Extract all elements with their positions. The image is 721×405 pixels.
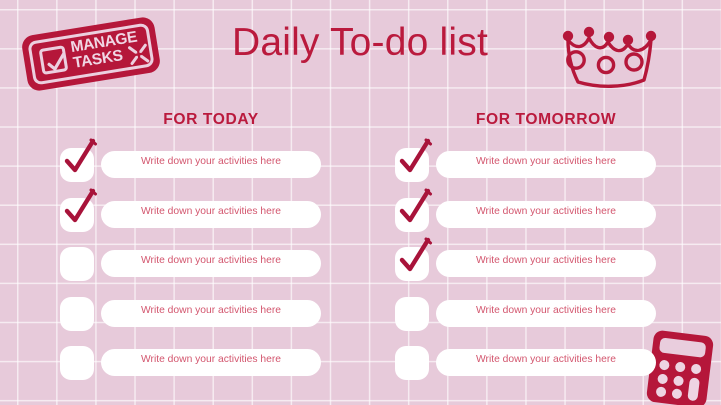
task-row: Write down your activities here — [60, 297, 340, 347]
task-checkbox[interactable] — [60, 247, 94, 281]
task-checkbox[interactable] — [395, 198, 429, 232]
tomorrow-column: FOR TOMORROW Write down your activities … — [395, 110, 675, 396]
task-placeholder: Write down your activities here — [436, 303, 656, 319]
slide-canvas: MANAGE TASKS Daily To-do list — [0, 0, 721, 405]
task-placeholder: Write down your activities here — [101, 303, 321, 319]
today-task-list: Write down your activities here Write do… — [60, 148, 340, 396]
task-placeholder: Write down your activities here — [436, 154, 656, 170]
checkbox-box — [395, 297, 429, 331]
checkbox-box — [395, 148, 429, 182]
manage-tasks-stamp: MANAGE TASKS — [20, 16, 161, 93]
task-row: Write down your activities here — [395, 198, 675, 248]
task-row: Write down your activities here — [395, 346, 675, 396]
checkbox-box — [395, 198, 429, 232]
checkbox-checked-icon — [39, 45, 69, 75]
task-placeholder: Write down your activities here — [101, 204, 321, 220]
crown-icon — [556, 14, 666, 92]
task-checkbox[interactable] — [60, 346, 94, 380]
task-row: Write down your activities here — [60, 148, 340, 198]
checkbox-box — [395, 247, 429, 281]
checkbox-box — [60, 297, 94, 331]
task-checkbox[interactable] — [60, 198, 94, 232]
task-placeholder: Write down your activities here — [101, 352, 321, 368]
task-checkbox[interactable] — [60, 297, 94, 331]
task-placeholder: Write down your activities here — [436, 204, 656, 220]
task-row: Write down your activities here — [60, 346, 340, 396]
task-placeholder: Write down your activities here — [436, 253, 656, 269]
task-checkbox[interactable] — [395, 247, 429, 281]
page-title: Daily To-do list — [170, 21, 550, 65]
checkbox-box — [60, 198, 94, 232]
task-row: Write down your activities here — [60, 247, 340, 297]
task-checkbox[interactable] — [60, 148, 94, 182]
task-placeholder: Write down your activities here — [436, 352, 656, 368]
task-placeholder: Write down your activities here — [101, 154, 321, 170]
checkbox-box — [60, 148, 94, 182]
star-burst-icon — [126, 42, 151, 67]
task-checkbox[interactable] — [395, 297, 429, 331]
task-checkbox[interactable] — [395, 148, 429, 182]
task-row: Write down your activities here — [395, 247, 675, 297]
task-row: Write down your activities here — [395, 148, 675, 198]
tomorrow-column-heading: FOR TOMORROW — [417, 110, 675, 138]
today-column-heading: FOR TODAY — [82, 110, 340, 138]
checkbox-box — [60, 247, 94, 281]
checkbox-box — [60, 346, 94, 380]
task-row: Write down your activities here — [395, 297, 675, 347]
checkbox-box — [395, 346, 429, 380]
task-row: Write down your activities here — [60, 198, 340, 248]
task-checkbox[interactable] — [395, 346, 429, 380]
task-placeholder: Write down your activities here — [101, 253, 321, 269]
tomorrow-task-list: Write down your activities here Write do… — [395, 148, 675, 396]
today-column: FOR TODAY Write down your activities her… — [60, 110, 340, 396]
